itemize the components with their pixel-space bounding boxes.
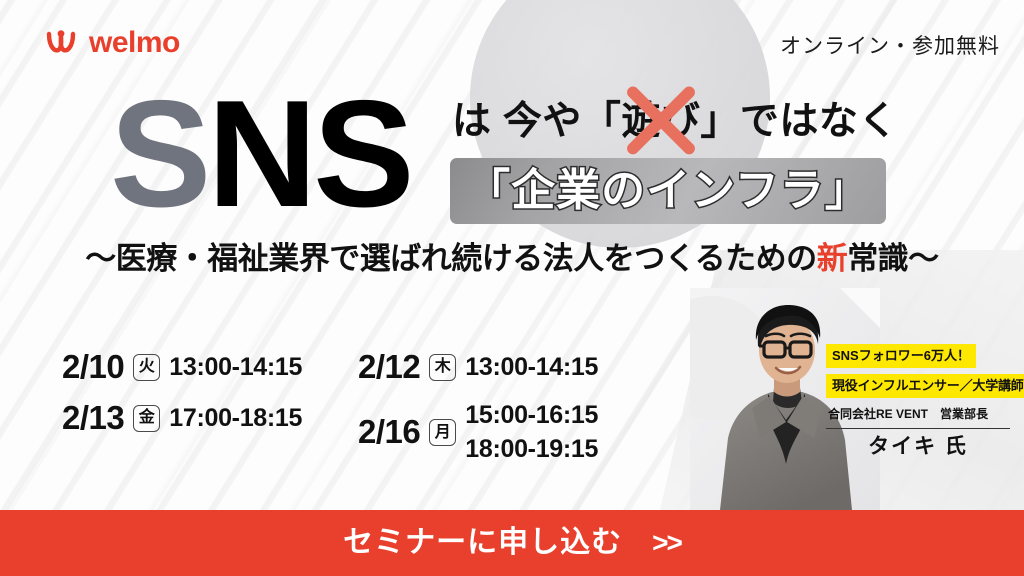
online-free-note: オンライン・参加無料 [780,30,1000,60]
schedule-date: 2/10 [62,348,124,387]
seminar-banner: welmo オンライン・参加無料 SNS は 今や「遊び」ではなく 「企業のイン… [0,0,1024,576]
brand-logo[interactable]: welmo [46,28,180,58]
chevron-right-double-icon: >> [652,529,681,557]
headline-acronym-rest: NS [207,69,410,239]
schedule-item-0: 2/10 火 13:00-14:15 [62,348,358,387]
speaker-company: 合同会社RE VENT 営業部長 [826,404,1010,429]
cta-label: セミナーに申し込む [343,528,622,558]
schedule-times: 13:00-14:15 [465,351,598,385]
speaker-role-badge: 現役インフルエンサー／大学講師 [826,374,1024,398]
tagline-highlight: 新 [817,241,848,276]
headline-struck-word: 遊び [621,102,700,141]
schedule-row: 2/10 火 13:00-14:15 2/12 木 13:00-14:15 [62,348,654,387]
headline-line-1: は 今や「遊び」ではなく [452,102,898,141]
headline-emphasis-text: 「企業のインフラ」 [466,169,870,213]
headline-line-1-before: は 今や「 [452,100,621,143]
red-x-icon [622,81,700,159]
headline-emphasis-box: 「企業のインフラ」 [450,158,886,224]
schedule-date: 2/12 [358,348,420,387]
schedule-time: 13:00-14:15 [169,351,302,385]
welmo-mark-icon [46,28,80,58]
speaker-followers-badge: SNSフォロワー6万人！ [826,344,976,368]
schedule-times: 15:00-16:15 18:00-19:15 [465,399,598,467]
schedule-time: 13:00-14:15 [465,351,598,385]
schedule-dayofweek-badge: 火 [133,354,160,381]
speaker-info: SNSフォロワー6万人！ 現役インフルエンサー／大学講師 合同会社RE VENT… [826,344,1010,460]
headline-acronym: SNS [110,78,411,230]
schedule-item-1: 2/12 木 13:00-14:15 [358,348,654,387]
schedule-list: 2/10 火 13:00-14:15 2/12 木 13:00-14:15 2/… [62,348,654,478]
schedule-time: 15:00-16:15 [465,399,598,433]
headline-tagline: 〜医療・福祉業界で選ばれ続ける法人をつくるための新常識〜 [0,243,1024,274]
schedule-times: 13:00-14:15 [169,351,302,385]
tagline-before: 〜医療・福祉業界で選ばれ続ける法人をつくるための [85,241,816,276]
schedule-dayofweek-badge: 月 [429,419,456,446]
speaker-name: タイキ 氏 [826,429,1010,460]
schedule-date: 2/16 [358,413,420,452]
schedule-item-3: 2/16 月 15:00-16:15 18:00-19:15 [358,399,654,467]
schedule-dayofweek-badge: 金 [133,405,160,432]
cta-apply-button[interactable]: セミナーに申し込む >> [0,510,1024,576]
schedule-item-2: 2/13 金 17:00-18:15 [62,399,358,438]
tagline-after: 常識〜 [847,241,939,276]
schedule-times: 17:00-18:15 [169,402,302,436]
schedule-date: 2/13 [62,399,124,438]
schedule-row: 2/13 金 17:00-18:15 2/16 月 15:00-16:15 18… [62,399,654,467]
headline-acronym-first: S [110,69,207,239]
brand-logo-text: welmo [89,28,180,58]
schedule-dayofweek-badge: 木 [429,354,456,381]
schedule-time-secondary: 18:00-19:15 [465,433,598,467]
headline-line-1-after: 」ではなく [700,100,898,143]
schedule-time: 17:00-18:15 [169,402,302,436]
